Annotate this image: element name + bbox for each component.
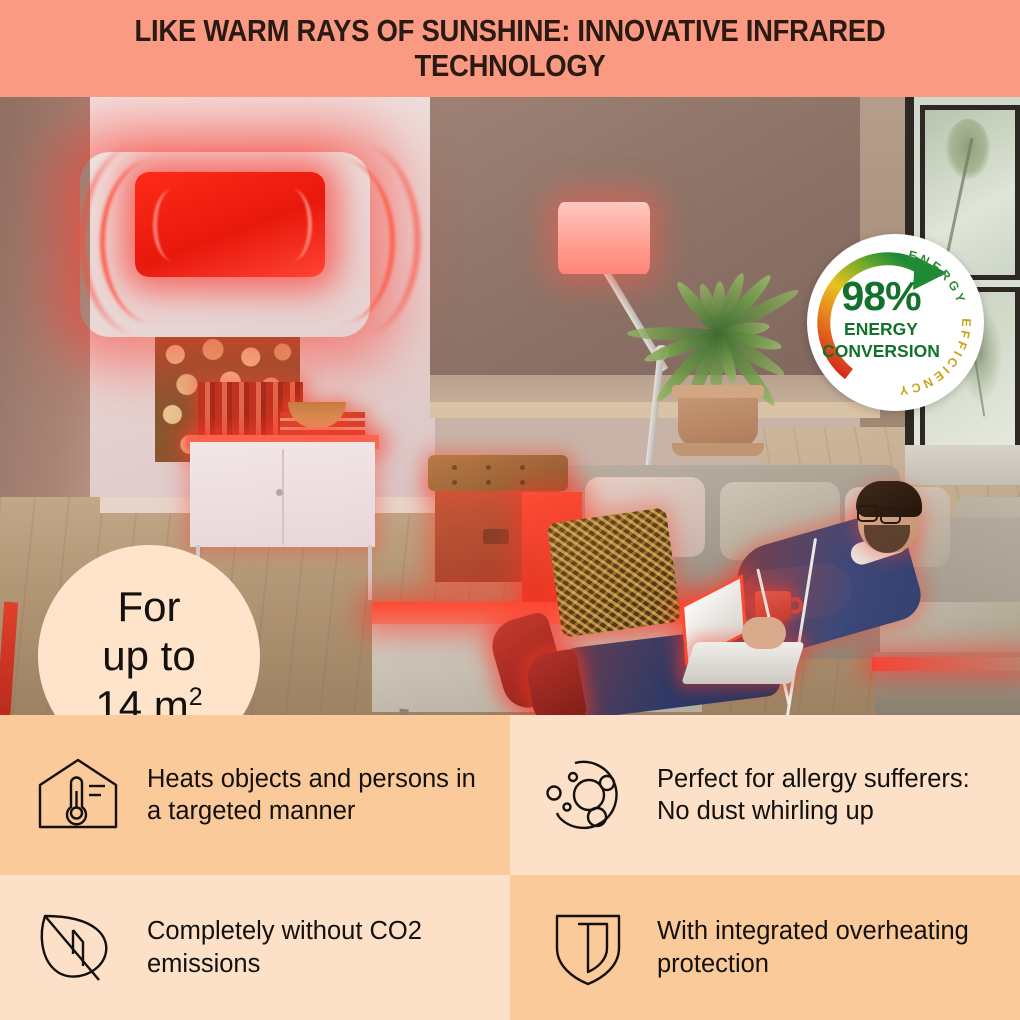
feature-card-overheating: With integrated overheating protection [510, 875, 1020, 1020]
coverage-area-text: For up to 14 m2 [95, 582, 202, 715]
cabinet-leg-right [368, 545, 372, 600]
product-scene-photo: ENERGY EFFICIENCY 98% ENERGY CONVERSION … [0, 97, 1020, 715]
trunk-tuft [452, 480, 457, 485]
sofa-heat-edge [872, 657, 1020, 671]
window-sill [905, 445, 1020, 485]
floor-lamp-shade [558, 202, 650, 274]
panel-highlight-left [153, 189, 193, 261]
coverage-line-2: up to [95, 631, 202, 681]
coverage-line-3: 14 m2 [95, 681, 202, 715]
eyeglasses-right-lens [880, 507, 901, 524]
feature-card-heats-objects: Heats objects and persons in a targeted … [0, 715, 510, 875]
coverage-line-1: For [95, 582, 202, 632]
palm-frond [627, 327, 718, 340]
shield-icon [540, 900, 635, 995]
energy-badge-text: 98% ENERGY CONVERSION [815, 276, 947, 362]
dust-particles-icon [540, 748, 635, 843]
coverage-exponent: 2 [189, 683, 203, 711]
storage-trunk-lid [428, 455, 568, 491]
trunk-tuft [520, 480, 525, 485]
cabinet-door-divider [282, 449, 284, 545]
feature-grid: Heats objects and persons in a targeted … [0, 715, 1020, 1020]
page-title: LIKE WARM RAYS OF SUNSHINE: INNOVATIVE I… [51, 14, 969, 84]
feature-card-co2: Completely without CO2 emissions [0, 875, 510, 1020]
energy-percent: 98% [815, 276, 947, 317]
trunk-latch [483, 529, 509, 544]
trunk-tuft [520, 465, 525, 470]
cabinet-handle [276, 489, 283, 496]
feature-card-allergy: Perfect for allergy sufferers: No dust w… [510, 715, 1020, 875]
feature-label: Completely without CO2 emissions [147, 915, 484, 979]
plant-pot-rim [672, 385, 764, 398]
leaf-icon [30, 900, 125, 995]
feature-label: Perfect for allergy sufferers: No dust w… [657, 763, 994, 827]
coverage-value: 14 m [95, 682, 188, 715]
gold-throw-pillow [547, 507, 682, 638]
feature-label: Heats objects and persons in a targeted … [147, 763, 484, 827]
plant-pot-saucer [672, 443, 764, 456]
feature-label: With integrated overheating protection [657, 915, 994, 979]
trunk-tuft [486, 480, 491, 485]
product-infographic: LIKE WARM RAYS OF SUNSHINE: INNOVATIVE I… [0, 0, 1020, 1020]
person-hand [742, 617, 786, 649]
trunk-tuft [452, 465, 457, 470]
header-banner: LIKE WARM RAYS OF SUNSHINE: INNOVATIVE I… [0, 0, 1020, 97]
energy-label-line1: ENERGY [815, 320, 947, 339]
panel-highlight-right [272, 189, 312, 261]
trunk-tuft [486, 465, 491, 470]
energy-efficiency-badge: ENERGY EFFICIENCY 98% ENERGY CONVERSION [807, 234, 984, 411]
coffee-mug-handle [788, 597, 803, 614]
eyeglasses-left-lens [857, 505, 878, 522]
laptop-keyboard [681, 642, 805, 684]
energy-label-line2: CONVERSION [815, 342, 947, 361]
house-thermometer-icon [30, 748, 125, 843]
